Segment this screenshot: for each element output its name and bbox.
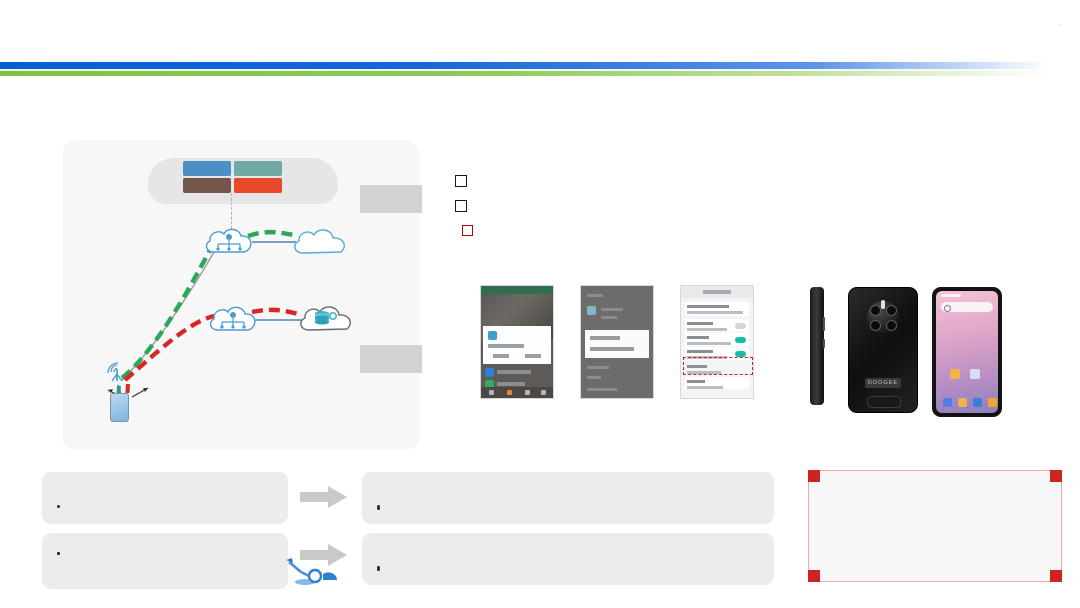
arrow-right-icon xyxy=(300,485,348,509)
pain-point-card-1 xyxy=(42,472,288,524)
camera-module xyxy=(867,301,899,333)
logo-divider xyxy=(1060,24,1061,25)
app2-card-line xyxy=(590,336,620,340)
bullet-item-1 xyxy=(455,170,1035,187)
app-screenshot-3 xyxy=(680,285,754,399)
logo-year-block xyxy=(1051,22,1060,27)
camera-lens-icon xyxy=(870,305,881,316)
app3-toggle-off[interactable] xyxy=(735,323,746,329)
device-power-button xyxy=(823,339,825,348)
app3-row-title xyxy=(687,380,705,383)
device-front-view xyxy=(932,287,1002,417)
app1-list-text-1 xyxy=(497,370,531,374)
red-square-bullet-icon xyxy=(462,225,473,236)
flash-icon xyxy=(881,300,885,309)
app3-row-title xyxy=(687,305,729,308)
search-icon xyxy=(944,305,951,312)
app1-dialog-ok xyxy=(525,354,541,358)
callout-box xyxy=(808,470,1062,582)
value-list-2 xyxy=(374,558,388,560)
dock-bar xyxy=(936,397,998,409)
bullet-list xyxy=(455,170,1035,244)
camera-lens-icon xyxy=(886,305,897,316)
dedicated-upf-cloud-icon xyxy=(206,302,262,336)
app3-row-title xyxy=(687,336,709,339)
app1-dialog-icon xyxy=(488,331,497,340)
camera-lens-icon xyxy=(870,320,881,331)
intranet-cloud-icon xyxy=(296,303,358,335)
dock-app-icon[interactable] xyxy=(943,398,952,407)
robot-arm-icon xyxy=(283,552,339,586)
nf-udm xyxy=(234,161,282,176)
device-back-view: DOOGEE xyxy=(848,287,918,413)
device-grip xyxy=(867,396,901,408)
app2-line xyxy=(601,308,623,311)
app3-row-title xyxy=(687,350,713,353)
app3-row-sub xyxy=(687,386,723,389)
value-card-2 xyxy=(362,533,774,585)
value-list-1 xyxy=(374,497,388,499)
app1-dialog-cancel xyxy=(493,354,509,358)
app3-row xyxy=(685,377,749,389)
device-volume-button xyxy=(823,317,825,331)
app-screenshot-1 xyxy=(480,285,554,399)
app2-card xyxy=(585,330,649,358)
device-photos-group: DOOGEE xyxy=(800,283,1050,438)
status-bar xyxy=(941,294,961,297)
app2-avatar xyxy=(587,306,596,315)
header-rule-green xyxy=(0,71,1050,76)
app-screenshots-group xyxy=(468,285,768,437)
shared-upf-cloud-icon xyxy=(202,224,258,258)
header-rule-blue xyxy=(0,62,1050,69)
terminal-phone-icon xyxy=(110,393,129,422)
app3-row xyxy=(685,333,749,346)
app3-row-sub xyxy=(687,342,731,345)
device-side-view xyxy=(810,287,824,405)
nf-amf xyxy=(183,178,231,193)
device-brand-logo: DOOGEE xyxy=(865,378,901,388)
app3-header xyxy=(681,286,753,298)
app3-toggle-on[interactable] xyxy=(735,337,746,343)
app-screenshot-2 xyxy=(580,285,654,399)
square-bullet-icon xyxy=(455,200,467,212)
app3-row xyxy=(685,319,749,332)
antenna-signal-icon xyxy=(105,362,127,384)
app2-line xyxy=(587,294,603,297)
app1-list-icon-1 xyxy=(485,368,494,377)
nf-pcf xyxy=(183,161,231,176)
app1-topbar xyxy=(481,286,553,294)
header-divider-rule xyxy=(0,62,1050,76)
value-card-1 xyxy=(362,472,774,524)
slide-root: DOOGEE xyxy=(0,0,1080,608)
conference-logo xyxy=(1051,22,1070,27)
side-label-terminal xyxy=(360,345,422,373)
app1-dialog xyxy=(483,326,551,364)
app2-line xyxy=(587,376,601,379)
app-icon[interactable] xyxy=(970,369,980,379)
app1-list-text-2 xyxy=(497,382,525,386)
app2-line xyxy=(587,366,609,369)
internet-cloud-icon xyxy=(290,226,352,258)
nf-smf xyxy=(234,178,282,193)
dock-app-icon[interactable] xyxy=(988,398,997,407)
bullet-item-2 xyxy=(455,195,1035,212)
app3-title xyxy=(703,290,731,294)
camera-lens-icon xyxy=(886,320,897,331)
highlight-dashed-box xyxy=(683,357,753,375)
search-bar[interactable] xyxy=(941,302,993,312)
pain-point-card-2 xyxy=(42,533,288,589)
app1-nav-item xyxy=(541,390,546,395)
side-label-network xyxy=(360,185,422,213)
app3-row-sub xyxy=(687,328,727,331)
app3-row xyxy=(685,302,749,316)
app1-nav-item xyxy=(525,390,530,395)
bullet-item-3 xyxy=(455,220,1035,236)
app1-dialog-text xyxy=(488,344,524,348)
app3-row-title xyxy=(687,322,713,325)
app-icon[interactable] xyxy=(950,369,960,379)
app3-row-sub xyxy=(687,311,743,314)
dock-app-icon[interactable] xyxy=(973,398,982,407)
square-bullet-icon xyxy=(455,175,467,187)
app1-navbar xyxy=(481,387,553,398)
app1-nav-item xyxy=(489,390,494,395)
app1-nav-item xyxy=(507,390,512,395)
app2-card-line xyxy=(590,347,634,351)
app2-line xyxy=(601,316,617,319)
app2-line xyxy=(587,388,617,391)
dock-app-icon[interactable] xyxy=(958,398,967,407)
pain-point-list-1 xyxy=(54,497,68,499)
device-screen xyxy=(936,291,998,413)
callout-text xyxy=(809,471,1061,581)
